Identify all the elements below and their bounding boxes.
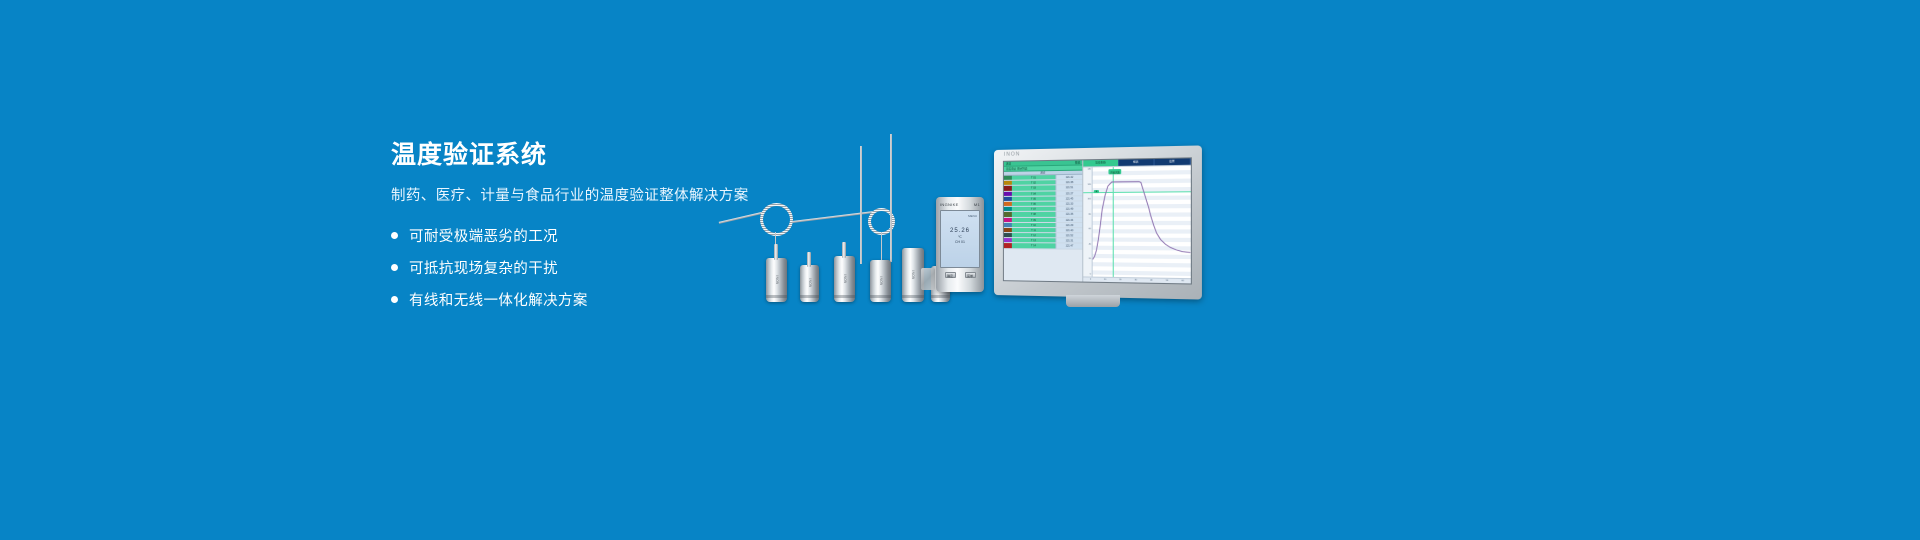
channel-value-cell: 121.33 [1055, 201, 1082, 205]
channel-name-cell: T 10 [1012, 223, 1056, 227]
handheld-brand-row: INGNIKE M1 [940, 202, 980, 207]
channel-name-cell: T 12 [1012, 233, 1056, 237]
handheld-key-menu[interactable]: 菜单 [965, 272, 976, 278]
x-tick-0: 0 [1090, 279, 1091, 281]
data-logger-3: INON [834, 256, 855, 302]
channel-color-swatch [1004, 176, 1012, 180]
data-logger-1: INON [766, 258, 787, 302]
feature-bullet-2-label: 可抵抗现场复杂的干扰 [409, 257, 558, 278]
channel-value-cell: 121.51 [1055, 185, 1082, 190]
logger-2-stem [807, 252, 811, 267]
handheld-reader[interactable]: INGNIKE M1 MENU 25.26 ℃ CH 01 确定 菜单 [936, 197, 984, 292]
data-logger-4: INON [870, 260, 891, 302]
handheld-screen-unit: ℃ [943, 235, 977, 239]
y-tick-6: 20 [1089, 258, 1091, 260]
monitor-display: INON 通道 数值 温度验证 测点列表 通道 T 01121.42T 0212… [994, 150, 1192, 295]
channel-value-cell: 121.36 [1055, 212, 1082, 216]
channel-value-cell: 121.47 [1055, 244, 1082, 248]
bullet-dot-icon [391, 296, 398, 303]
coiled-sensor-left [760, 203, 793, 236]
software-panel-subheader-label: 温度验证 测点列表 [1006, 166, 1028, 170]
chart-curve [1093, 166, 1191, 278]
channel-name-cell: T 05 [1012, 196, 1056, 201]
channel-color-swatch [1004, 191, 1012, 195]
channel-value-cell: 121.52 [1055, 233, 1082, 237]
x-tick-3: 30 [1135, 279, 1137, 281]
channel-color-swatch [1004, 244, 1012, 248]
x-tick-5: 50 [1166, 280, 1168, 282]
monitor-bezel: INON 通道 数值 温度验证 测点列表 通道 T 01121.42T 0212… [994, 145, 1202, 299]
channel-name-cell: T 01 [1012, 175, 1056, 180]
long-needle-probe-2 [890, 134, 892, 262]
monitor-screen: 通道 数值 温度验证 测点列表 通道 T 01121.42T 02121.38T… [1003, 157, 1192, 284]
channel-color-swatch [1004, 233, 1012, 237]
channel-color-swatch [1004, 217, 1012, 221]
software-panel-header-value: 数值 [1075, 160, 1080, 164]
monitor-brand-label: INON [1004, 151, 1020, 157]
product-photo-group: INON INON INON INON INON INON INGNIKE M1 [700, 120, 1220, 320]
channel-value-cell: 121.27 [1055, 191, 1082, 196]
handheld-screen-top-label: MENU [943, 214, 977, 218]
channel-color-swatch [1004, 197, 1012, 201]
channel-color-swatch [1004, 202, 1012, 206]
thermal-block-accessory [921, 268, 935, 290]
long-needle-probe-1 [860, 146, 862, 264]
logger-1-stem [774, 244, 778, 260]
x-tick-6: 60 [1182, 280, 1184, 282]
channel-color-swatch [1004, 228, 1012, 232]
y-tick-0: 140 [1087, 168, 1090, 170]
logger-label: INON [911, 270, 915, 279]
y-tick-2: 100 [1087, 198, 1090, 200]
channel-value-cell: 121.31 [1055, 239, 1082, 243]
x-tick-1: 10 [1104, 279, 1106, 281]
software-channel-rows[interactable]: T 01121.42T 02121.38T 03121.51T 04121.27… [1004, 175, 1083, 282]
y-tick-5: 40 [1089, 243, 1091, 245]
channel-value-cell: 121.38 [1055, 180, 1082, 185]
channel-name-cell: T 02 [1012, 180, 1056, 185]
y-tick-4: 60 [1089, 228, 1091, 230]
channel-value-cell: 121.29 [1055, 223, 1082, 227]
software-chart-panel: 温度曲线报表设置 140120100806040200 开始灭菌 A 01020… [1084, 158, 1191, 283]
channel-name-cell: T 14 [1012, 244, 1056, 249]
bullet-dot-icon [391, 264, 398, 271]
channel-value-cell: 121.45 [1055, 196, 1082, 200]
logger-label: INON [879, 276, 883, 285]
feature-bullet-3-label: 有线和无线一体化解决方案 [409, 289, 588, 310]
x-tick-2: 20 [1119, 279, 1121, 281]
handheld-keypad[interactable]: 确定 菜单 [940, 272, 980, 278]
channel-value-cell: 121.44 [1055, 217, 1082, 221]
channel-name-cell: T 07 [1012, 207, 1056, 211]
y-tick-7: 0 [1090, 273, 1091, 275]
bullet-dot-icon [391, 232, 398, 239]
software-panel-header-label: 通道 [1006, 162, 1011, 166]
channel-name-cell: T 03 [1012, 186, 1056, 191]
handheld-screen-value: 25.26 [943, 228, 977, 234]
channel-color-swatch [1004, 181, 1012, 185]
channel-name-cell: T 11 [1012, 228, 1056, 232]
channel-value-cell: 121.42 [1055, 175, 1082, 180]
monitor-stand [1066, 295, 1120, 307]
y-tick-3: 80 [1089, 213, 1091, 215]
table-row[interactable]: T 14121.47 [1004, 244, 1083, 250]
handheld-key-confirm[interactable]: 确定 [945, 272, 956, 278]
channel-name-cell: T 04 [1012, 191, 1056, 196]
channel-color-swatch [1004, 207, 1012, 211]
data-logger-2: INON [800, 265, 819, 302]
channel-color-swatch [1004, 238, 1012, 242]
x-tick-4: 40 [1150, 280, 1152, 282]
channel-name-cell: T 06 [1012, 202, 1056, 206]
channel-name-cell: T 08 [1012, 212, 1056, 216]
handheld-screen-channel: CH 01 [943, 240, 977, 244]
logger-label: INON [843, 274, 847, 283]
feature-bullet-1-label: 可耐受极端恶劣的工况 [409, 225, 558, 246]
channel-color-swatch [1004, 186, 1012, 190]
channel-name-cell: T 13 [1012, 238, 1056, 242]
y-tick-1: 120 [1087, 183, 1090, 185]
chart-y-axis: 140120100806040200 [1084, 167, 1093, 276]
handheld-screen: MENU 25.26 ℃ CH 01 [940, 210, 980, 268]
software-channel-panel: 通道 数值 温度验证 测点列表 通道 T 01121.42T 02121.38T… [1004, 160, 1084, 281]
channel-color-swatch [1004, 223, 1012, 227]
logger-3-stem [842, 242, 846, 258]
hero-banner: 温度验证系统 制药、医疗、计量与食品行业的温度验证整体解决方案 可耐受极端恶劣的… [0, 0, 1920, 540]
temperature-chart: 140120100806040200 开始灭菌 A [1084, 165, 1191, 278]
logger-label: INON [775, 275, 779, 284]
channel-name-cell: T 09 [1012, 217, 1056, 221]
channel-color-swatch [1004, 212, 1012, 216]
channel-value-cell: 121.49 [1055, 207, 1082, 211]
logger-label: INON [808, 278, 812, 287]
handheld-brand-label: INGNIKE [940, 202, 959, 207]
handheld-model-label: M1 [974, 202, 980, 207]
channel-value-cell: 121.40 [1055, 228, 1082, 232]
